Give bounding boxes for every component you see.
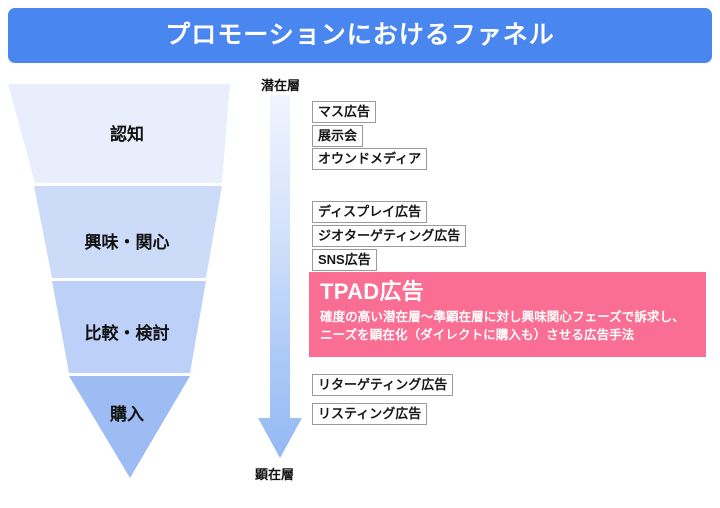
tpad-description-line: ニーズを顕在化（ダイレクトに購入も）させる広告手法	[320, 326, 706, 344]
tpad-description-line: 確度の高い潜在層〜準顕在層に対し興味関心フェーズで訴求し、	[320, 308, 706, 326]
channel-tag[interactable]: ディスプレイ広告	[312, 201, 427, 223]
funnel-stage-label: 認知	[0, 126, 250, 143]
funnel-stage-label: 比較・検討	[0, 325, 250, 342]
channel-tag[interactable]: ジオターゲティング広告	[312, 225, 466, 247]
channel-tag[interactable]: オウンドメディア	[312, 148, 427, 170]
channel-tag[interactable]: リターゲティング広告	[312, 374, 453, 396]
funnel-stage-shape	[0, 186, 246, 278]
tpad-title: TPAD広告	[320, 280, 706, 303]
funnel-stage-shape	[0, 376, 246, 478]
channel-tag[interactable]: 展示会	[312, 125, 363, 147]
funnel-stage-awareness: 認知	[0, 84, 246, 183]
flow-bottom-label: 顕在層	[255, 468, 294, 481]
funnel-chart: 認知 興味・関心 比較・検討 購入	[0, 84, 246, 482]
funnel-stage-label: 興味・関心	[0, 234, 250, 251]
flow-arrow-icon	[255, 95, 305, 463]
flow-top-label: 潜在層	[261, 79, 300, 92]
funnel-stage-label: 購入	[0, 406, 250, 423]
channel-tag[interactable]: リスティング広告	[312, 403, 427, 425]
page-title: プロモーションにおけるファネル	[165, 23, 555, 48]
channel-tag[interactable]: SNS広告	[312, 249, 377, 271]
funnel-stage-interest: 興味・関心	[0, 186, 246, 278]
funnel-stage-consideration: 比較・検討	[0, 281, 246, 373]
funnel-stage-purchase: 購入	[0, 376, 246, 478]
tpad-description: 確度の高い潜在層〜準顕在層に対し興味関心フェーズで訴求し、 ニーズを顕在化（ダイ…	[320, 308, 706, 344]
tpad-highlight-panel[interactable]: TPAD広告 確度の高い潜在層〜準顕在層に対し興味関心フェーズで訴求し、 ニーズ…	[309, 272, 706, 357]
diagram-title-bar: プロモーションにおけるファネル	[8, 8, 712, 63]
channel-tag[interactable]: マス広告	[312, 101, 376, 123]
